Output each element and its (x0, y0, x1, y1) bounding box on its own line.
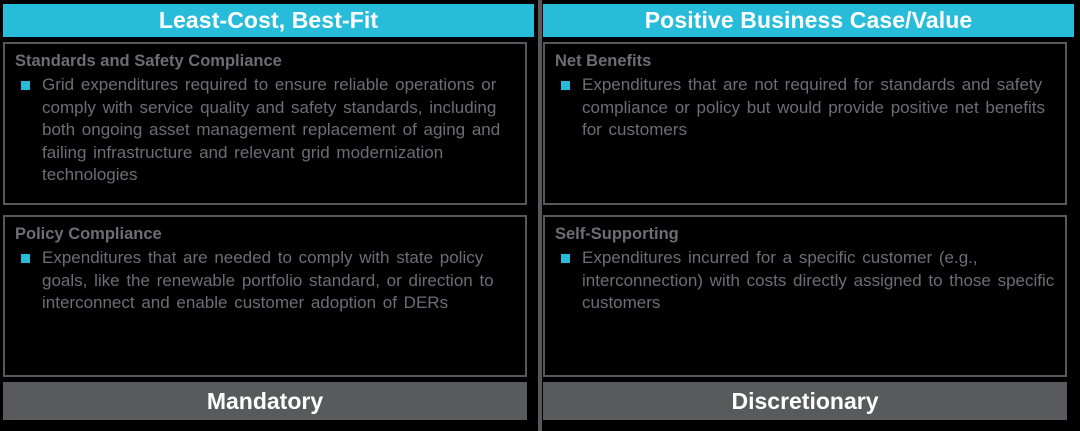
column-positive-business-case-value: Positive Business Case/Value Net Benefit… (543, 0, 1076, 431)
cell-title: Self-Supporting (555, 224, 1057, 244)
cell-title: Net Benefits (555, 51, 1057, 71)
cell-self-supporting: Self-Supporting Expenditures incurred fo… (543, 215, 1067, 377)
bullet-item: Grid expenditures required to ensure rel… (15, 74, 517, 187)
bullet-item: Expenditures that are needed to comply w… (15, 247, 517, 315)
square-bullet-icon (561, 81, 570, 90)
square-bullet-icon (21, 254, 30, 263)
column-least-cost-best-fit: Least-Cost, Best-Fit Standards and Safet… (3, 0, 536, 431)
cell-policy-compliance: Policy Compliance Expenditures that are … (3, 215, 527, 377)
bullet-text: Expenditures that are needed to comply w… (42, 247, 517, 315)
square-bullet-icon (21, 81, 30, 90)
column-footer-left: Mandatory (3, 382, 527, 420)
bullet-item: Expenditures that are not required for s… (555, 74, 1057, 142)
bullet-text: Expenditures that are not required for s… (582, 74, 1057, 142)
cell-standards-and-safety-compliance: Standards and Safety Compliance Grid exp… (3, 42, 527, 205)
column-footer-right: Discretionary (543, 382, 1067, 420)
cell-net-benefits: Net Benefits Expenditures that are not r… (543, 42, 1067, 205)
two-column-matrix: Least-Cost, Best-Fit Standards and Safet… (0, 0, 1080, 431)
column-header-right: Positive Business Case/Value (543, 4, 1074, 37)
bullet-text: Expenditures incurred for a specific cus… (582, 247, 1057, 315)
bullet-item: Expenditures incurred for a specific cus… (555, 247, 1057, 315)
cell-title: Policy Compliance (15, 224, 517, 244)
cell-title: Standards and Safety Compliance (15, 51, 517, 71)
bullet-text: Grid expenditures required to ensure rel… (42, 74, 517, 187)
column-divider (538, 0, 542, 431)
column-header-left: Least-Cost, Best-Fit (3, 4, 534, 37)
square-bullet-icon (561, 254, 570, 263)
